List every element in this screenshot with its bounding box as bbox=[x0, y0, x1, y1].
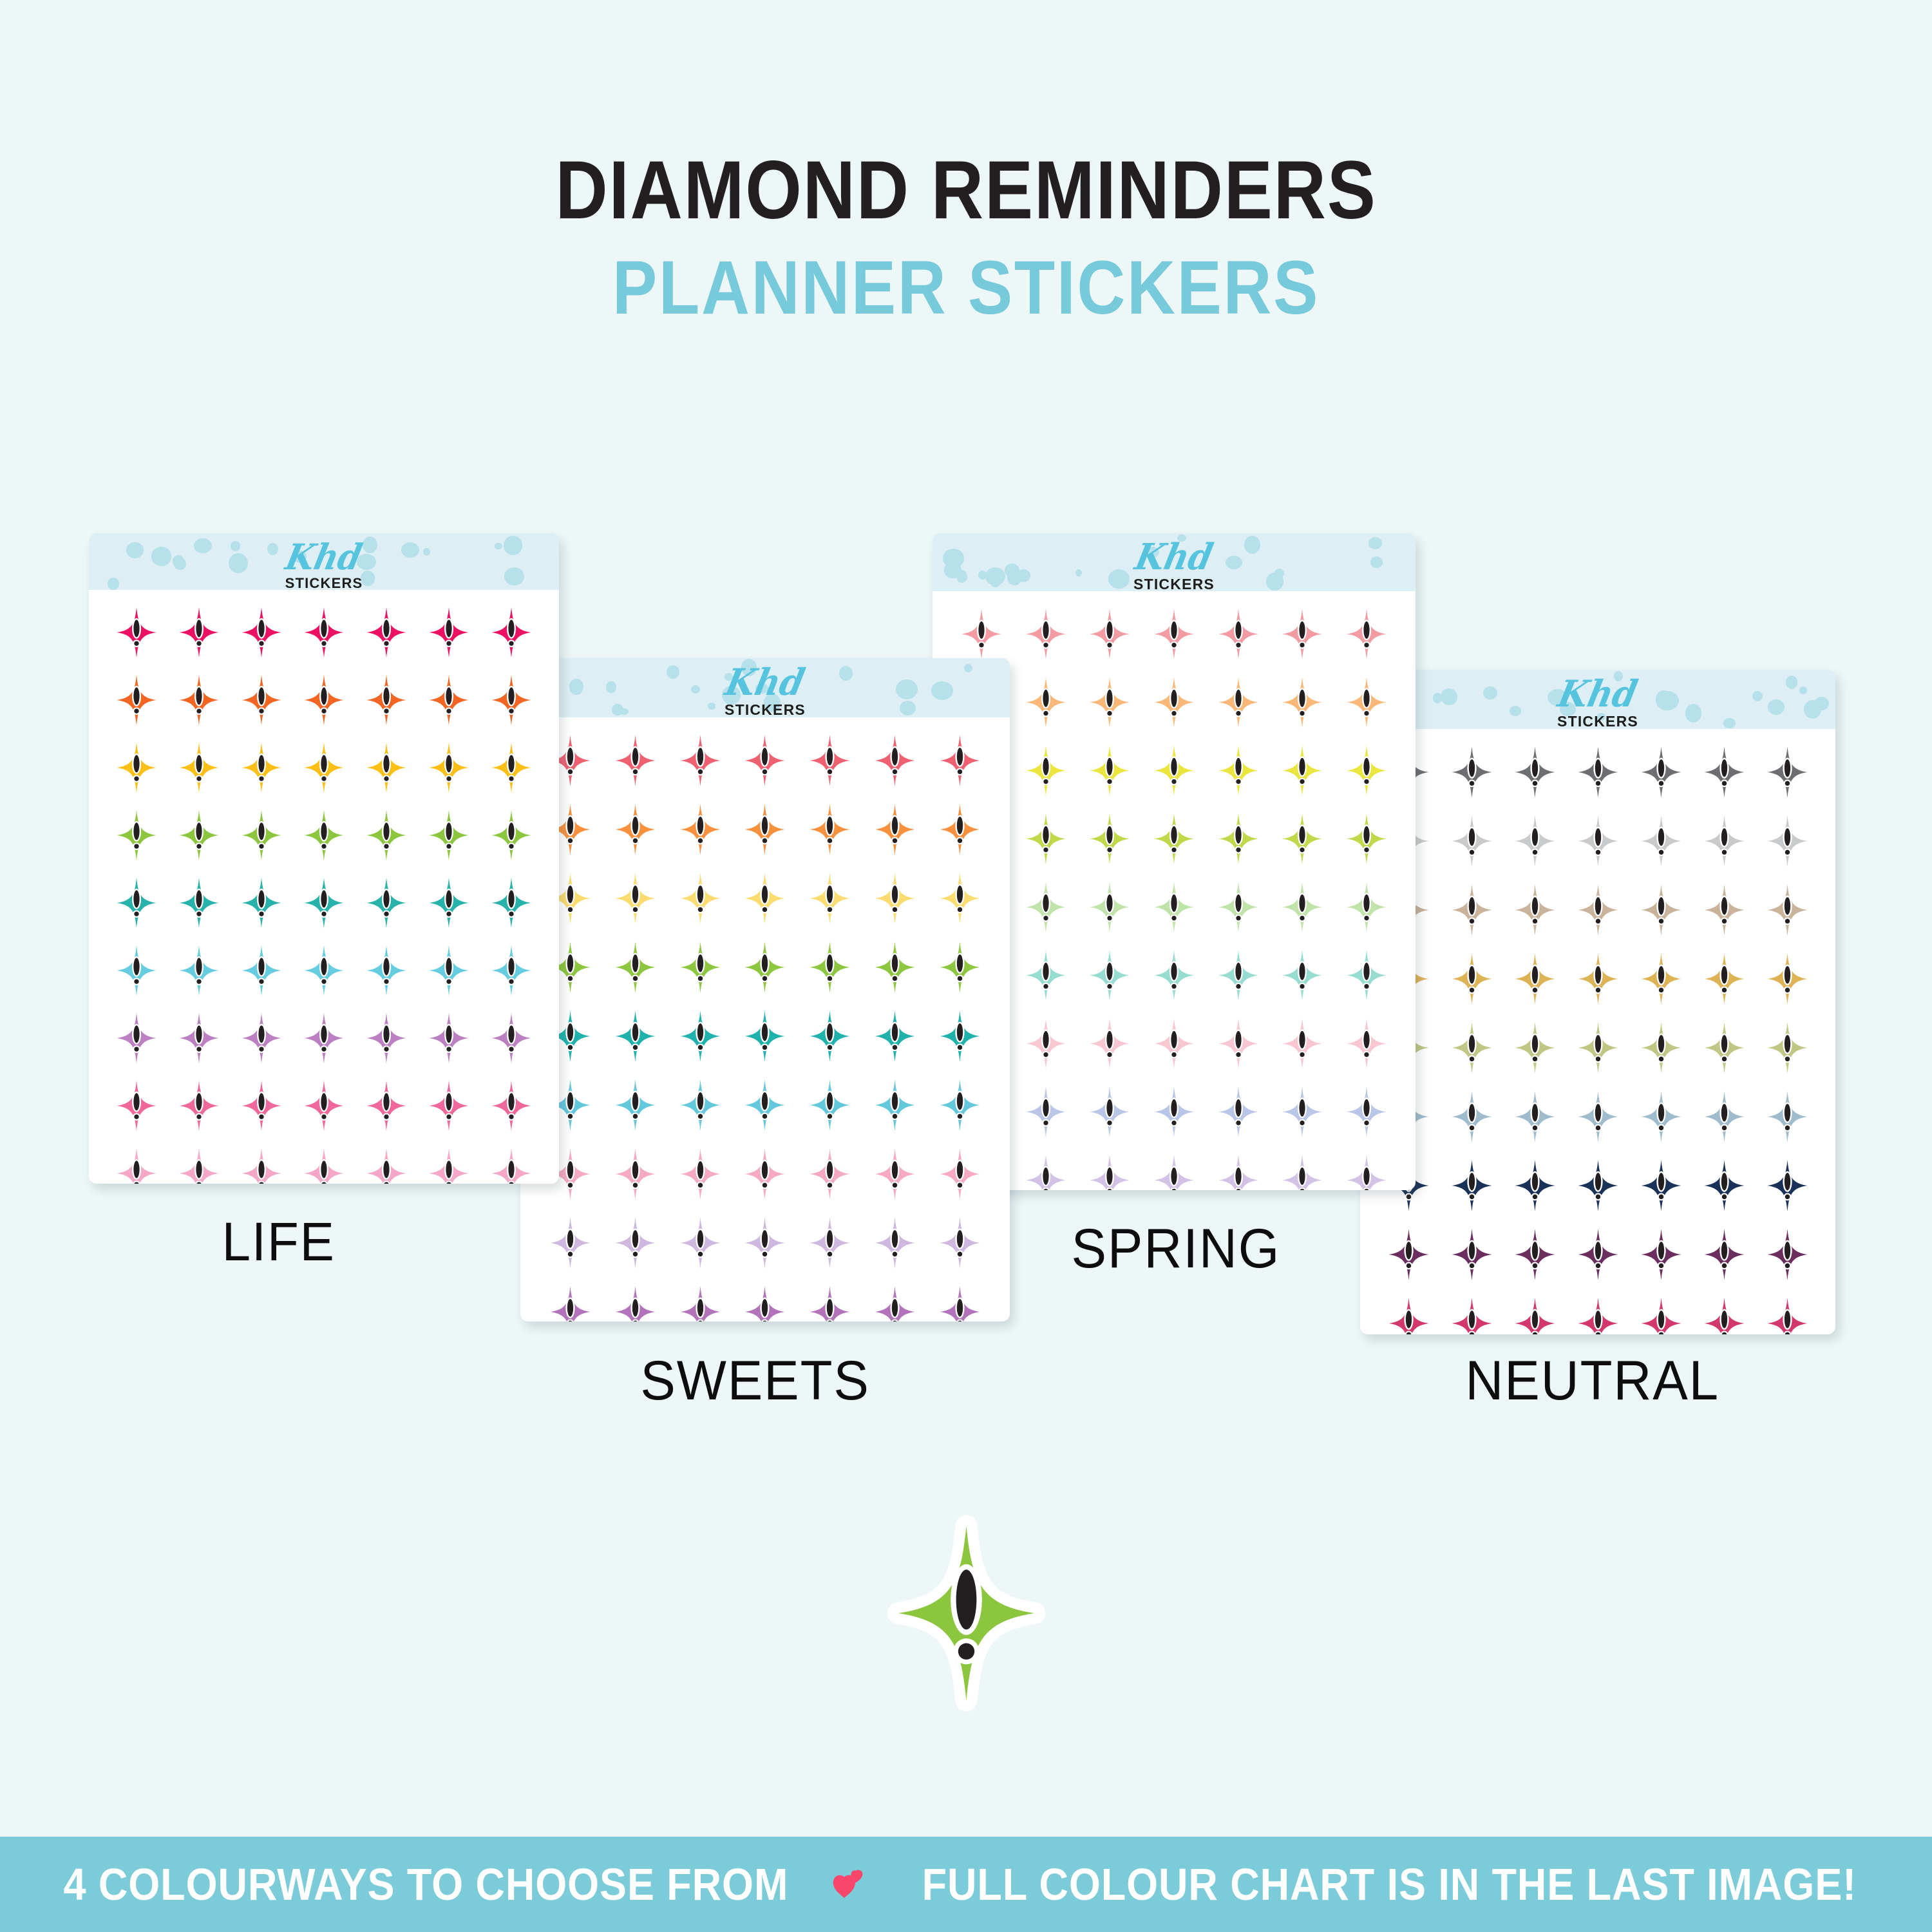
diamond-exclamation-sticker[interactable] bbox=[1150, 875, 1198, 939]
diamond-exclamation-sticker[interactable] bbox=[676, 1280, 725, 1322]
sheet-header-band: KhdSTICKERS bbox=[933, 533, 1416, 591]
diamond-exclamation-sticker[interactable] bbox=[1085, 943, 1134, 1007]
diamond-exclamation-sticker[interactable] bbox=[1510, 1016, 1560, 1080]
diamond-exclamation-sticker[interactable] bbox=[1763, 1222, 1812, 1287]
diamond-exclamation-sticker[interactable] bbox=[237, 1007, 286, 1070]
diamond-exclamation-sticker[interactable] bbox=[1636, 878, 1686, 942]
diamond-exclamation-sticker[interactable] bbox=[175, 871, 223, 934]
brand-word-label: STICKERS bbox=[1360, 714, 1835, 729]
diamond-exclamation-sticker[interactable] bbox=[175, 939, 223, 1002]
diamond-exclamation-sticker[interactable] bbox=[935, 935, 985, 999]
diamond-exclamation-sticker[interactable] bbox=[1278, 1012, 1327, 1075]
diamond-exclamation-sticker[interactable] bbox=[424, 1007, 473, 1070]
diamond-exclamation-sticker[interactable] bbox=[424, 736, 473, 799]
diamond-exclamation-sticker[interactable] bbox=[1447, 878, 1497, 942]
diamond-exclamation-sticker[interactable] bbox=[805, 1211, 855, 1275]
diamond-exclamation-sticker[interactable] bbox=[1278, 875, 1327, 939]
diamond-exclamation-sticker[interactable] bbox=[1510, 1153, 1560, 1218]
diamond-exclamation-sticker[interactable] bbox=[1700, 1084, 1749, 1149]
diamond-exclamation-sticker[interactable] bbox=[487, 1142, 536, 1184]
diamond-exclamation-sticker[interactable] bbox=[1573, 1153, 1623, 1218]
diamond-exclamation-sticker[interactable] bbox=[112, 736, 161, 799]
sheet-header-band: KhdSTICKERS bbox=[1360, 670, 1835, 729]
diamond-exclamation-sticker[interactable] bbox=[112, 804, 161, 867]
diamond-exclamation-sticker[interactable] bbox=[237, 1074, 286, 1137]
diamond-exclamation-sticker[interactable] bbox=[1573, 878, 1623, 942]
diamond-exclamation-sticker[interactable] bbox=[362, 1142, 411, 1184]
brand-script-logo: Khd bbox=[1375, 676, 1820, 712]
diamond-exclamation-sticker[interactable] bbox=[237, 668, 286, 732]
diamond-exclamation-sticker[interactable] bbox=[805, 935, 855, 999]
diamond-exclamation-sticker[interactable] bbox=[1150, 739, 1198, 802]
brand-logo: KhdSTICKERS bbox=[89, 539, 559, 590]
diamond-exclamation-sticker[interactable] bbox=[1763, 1084, 1812, 1149]
diamond-exclamation-sticker[interactable] bbox=[1085, 739, 1134, 802]
diamond-exclamation-sticker[interactable] bbox=[1510, 947, 1560, 1011]
diamond-exclamation-sticker[interactable] bbox=[1700, 947, 1749, 1011]
diamond-exclamation-sticker[interactable] bbox=[870, 1142, 920, 1206]
diamond-exclamation-sticker[interactable] bbox=[1021, 739, 1070, 802]
sheet-label-spring: SPRING bbox=[1072, 1217, 1281, 1281]
diamond-exclamation-sticker[interactable] bbox=[237, 601, 286, 664]
diamond-exclamation-sticker[interactable] bbox=[1763, 878, 1812, 942]
diamond-exclamation-sticker[interactable] bbox=[362, 804, 411, 867]
diamond-exclamation-sticker[interactable] bbox=[1636, 1153, 1686, 1218]
diamond-exclamation-sticker[interactable] bbox=[1085, 1080, 1134, 1144]
diamond-exclamation-sticker[interactable] bbox=[1278, 1080, 1327, 1144]
diamond-exclamation-sticker[interactable] bbox=[1573, 809, 1623, 873]
diamond-exclamation-sticker[interactable] bbox=[1510, 1084, 1560, 1149]
diamond-exclamation-sticker[interactable] bbox=[740, 1073, 790, 1137]
brand-word-label: STICKERS bbox=[89, 576, 559, 590]
hero-diamond-exclamation-icon bbox=[881, 1507, 1052, 1719]
diamond-exclamation-sticker[interactable] bbox=[1214, 739, 1263, 802]
diamond-exclamation-sticker[interactable] bbox=[487, 804, 536, 867]
sticker-sheet-life[interactable]: KhdSTICKERS bbox=[89, 533, 559, 1184]
diamond-exclamation-sticker[interactable] bbox=[740, 728, 790, 793]
diamond-exclamation-sticker[interactable] bbox=[1510, 1291, 1560, 1335]
diamond-exclamation-sticker[interactable] bbox=[805, 1004, 855, 1068]
diamond-exclamation-sticker[interactable] bbox=[1150, 670, 1198, 734]
double-heart-icon bbox=[833, 1868, 866, 1901]
diamond-exclamation-sticker[interactable] bbox=[740, 935, 790, 999]
diamond-exclamation-sticker[interactable] bbox=[424, 1142, 473, 1184]
diamond-exclamation-sticker[interactable] bbox=[487, 736, 536, 799]
diamond-exclamation-sticker[interactable] bbox=[487, 668, 536, 732]
sheet-label-life: LIFE bbox=[222, 1211, 336, 1273]
diamond-exclamation-sticker[interactable] bbox=[1447, 740, 1497, 804]
brand-logo: KhdSTICKERS bbox=[1360, 676, 1835, 729]
diamond-exclamation-sticker[interactable] bbox=[805, 797, 855, 862]
diamond-exclamation-sticker[interactable] bbox=[1573, 1084, 1623, 1149]
diamond-exclamation-sticker[interactable] bbox=[487, 871, 536, 934]
diamond-exclamation-sticker[interactable] bbox=[676, 935, 725, 999]
diamond-exclamation-sticker[interactable] bbox=[611, 866, 660, 931]
diamond-exclamation-sticker[interactable] bbox=[1447, 1222, 1497, 1287]
diamond-exclamation-sticker[interactable] bbox=[1384, 1222, 1434, 1287]
diamond-exclamation-sticker[interactable] bbox=[1214, 670, 1263, 734]
diamond-exclamation-sticker[interactable] bbox=[1150, 1148, 1198, 1191]
diamond-exclamation-sticker[interactable] bbox=[611, 797, 660, 862]
diamond-exclamation-sticker[interactable] bbox=[299, 736, 348, 799]
diamond-exclamation-sticker[interactable] bbox=[1447, 1153, 1497, 1218]
diamond-exclamation-sticker[interactable] bbox=[1447, 1291, 1497, 1335]
diamond-exclamation-sticker[interactable] bbox=[740, 1004, 790, 1068]
diamond-exclamation-sticker[interactable] bbox=[1636, 1016, 1686, 1080]
diamond-exclamation-sticker[interactable] bbox=[299, 804, 348, 867]
diamond-exclamation-sticker[interactable] bbox=[870, 935, 920, 999]
diamond-exclamation-sticker[interactable] bbox=[870, 728, 920, 793]
diamond-exclamation-sticker[interactable] bbox=[1278, 602, 1327, 666]
diamond-exclamation-sticker[interactable] bbox=[1447, 809, 1497, 873]
diamond-exclamation-sticker[interactable] bbox=[362, 668, 411, 732]
diamond-exclamation-sticker[interactable] bbox=[1021, 1012, 1070, 1075]
diamond-exclamation-sticker[interactable] bbox=[805, 1073, 855, 1137]
diamond-exclamation-sticker[interactable] bbox=[237, 939, 286, 1002]
diamond-exclamation-sticker[interactable] bbox=[611, 1280, 660, 1322]
diamond-exclamation-sticker[interactable] bbox=[1573, 1222, 1623, 1287]
diamond-exclamation-sticker[interactable] bbox=[1763, 809, 1812, 873]
diamond-exclamation-sticker[interactable] bbox=[1342, 1148, 1391, 1191]
diamond-exclamation-sticker[interactable] bbox=[237, 804, 286, 867]
brand-script-logo: Khd bbox=[948, 539, 1400, 575]
diamond-exclamation-sticker[interactable] bbox=[362, 939, 411, 1002]
diamond-exclamation-sticker[interactable] bbox=[1278, 739, 1327, 802]
diamond-exclamation-sticker[interactable] bbox=[611, 935, 660, 999]
diamond-exclamation-sticker[interactable] bbox=[1214, 875, 1263, 939]
diamond-exclamation-sticker[interactable] bbox=[1342, 875, 1391, 939]
diamond-exclamation-sticker[interactable] bbox=[1636, 740, 1686, 804]
diamond-exclamation-sticker[interactable] bbox=[740, 1280, 790, 1322]
sticker-grid-neutral bbox=[1360, 737, 1835, 1334]
diamond-exclamation-sticker[interactable] bbox=[957, 602, 1006, 666]
diamond-exclamation-sticker[interactable] bbox=[1214, 807, 1263, 871]
diamond-exclamation-sticker[interactable] bbox=[112, 668, 161, 732]
sticker-grid-life bbox=[89, 598, 559, 1184]
diamond-exclamation-sticker[interactable] bbox=[1278, 943, 1327, 1007]
double-heart-glyph bbox=[833, 1868, 866, 1901]
diamond-exclamation-sticker[interactable] bbox=[362, 1074, 411, 1137]
diamond-exclamation-sticker[interactable] bbox=[1342, 1012, 1391, 1075]
footer-banner: 4 COLOURWAYS TO CHOOSE FROM FULL COLOUR … bbox=[0, 1837, 1932, 1932]
diamond-exclamation-sticker[interactable] bbox=[1021, 1148, 1070, 1191]
diamond-exclamation-sticker[interactable] bbox=[805, 1280, 855, 1322]
diamond-exclamation-sticker[interactable] bbox=[1447, 947, 1497, 1011]
diamond-exclamation-sticker[interactable] bbox=[611, 1211, 660, 1275]
diamond-exclamation-sticker[interactable] bbox=[1573, 947, 1623, 1011]
diamond-exclamation-sticker[interactable] bbox=[1342, 943, 1391, 1007]
diamond-exclamation-sticker[interactable] bbox=[175, 736, 223, 799]
diamond-exclamation-sticker[interactable] bbox=[1763, 1153, 1812, 1218]
diamond-exclamation-sticker[interactable] bbox=[1150, 943, 1198, 1007]
diamond-exclamation-sticker[interactable] bbox=[1214, 1012, 1263, 1075]
diamond-exclamation-sticker[interactable] bbox=[487, 1074, 536, 1137]
diamond-exclamation-sticker[interactable] bbox=[112, 1142, 161, 1184]
diamond-exclamation-sticker[interactable] bbox=[935, 866, 985, 931]
diamond-exclamation-sticker[interactable] bbox=[1085, 1012, 1134, 1075]
diamond-exclamation-sticker[interactable] bbox=[112, 601, 161, 664]
diamond-exclamation-sticker[interactable] bbox=[1214, 1148, 1263, 1191]
diamond-exclamation-sticker[interactable] bbox=[1636, 809, 1686, 873]
diamond-exclamation-sticker[interactable] bbox=[1700, 1222, 1749, 1287]
brand-word-label: STICKERS bbox=[933, 577, 1416, 591]
diamond-exclamation-sticker[interactable] bbox=[1573, 740, 1623, 804]
diamond-exclamation-sticker[interactable] bbox=[870, 1073, 920, 1137]
diamond-exclamation-sticker[interactable] bbox=[1085, 670, 1134, 734]
diamond-exclamation-sticker[interactable] bbox=[1573, 1291, 1623, 1335]
diamond-exclamation-sticker[interactable] bbox=[1510, 740, 1560, 804]
diamond-exclamation-sticker[interactable] bbox=[175, 1074, 223, 1137]
diamond-exclamation-sticker[interactable] bbox=[299, 1142, 348, 1184]
diamond-exclamation-sticker[interactable] bbox=[1342, 807, 1391, 871]
diamond-exclamation-sticker[interactable] bbox=[1700, 740, 1749, 804]
diamond-exclamation-sticker[interactable] bbox=[1573, 1016, 1623, 1080]
diamond-exclamation-sticker[interactable] bbox=[1342, 602, 1391, 666]
diamond-exclamation-sticker[interactable] bbox=[362, 1007, 411, 1070]
diamond-exclamation-sticker[interactable] bbox=[1700, 878, 1749, 942]
diamond-exclamation-sticker[interactable] bbox=[1214, 1080, 1263, 1144]
diamond-exclamation-sticker[interactable] bbox=[676, 1004, 725, 1068]
diamond-exclamation-sticker[interactable] bbox=[676, 1073, 725, 1137]
diamond-exclamation-sticker[interactable] bbox=[1085, 1148, 1134, 1191]
diamond-exclamation-sticker[interactable] bbox=[740, 797, 790, 862]
diamond-exclamation-sticker[interactable] bbox=[1763, 1016, 1812, 1080]
diamond-exclamation-sticker[interactable] bbox=[1342, 670, 1391, 734]
diamond-exclamation-sticker[interactable] bbox=[175, 804, 223, 867]
diamond-exclamation-sticker[interactable] bbox=[362, 601, 411, 664]
diamond-exclamation-sticker[interactable] bbox=[805, 1142, 855, 1206]
diamond-exclamation-sticker[interactable] bbox=[1384, 1291, 1434, 1335]
diamond-exclamation-sticker[interactable] bbox=[1021, 807, 1070, 871]
diamond-exclamation-sticker[interactable] bbox=[424, 804, 473, 867]
diamond-exclamation-sticker[interactable] bbox=[362, 871, 411, 934]
diamond-exclamation-sticker[interactable] bbox=[740, 866, 790, 931]
diamond-exclamation-sticker[interactable] bbox=[676, 797, 725, 862]
diamond-exclamation-sticker[interactable] bbox=[870, 797, 920, 862]
diamond-exclamation-sticker[interactable] bbox=[112, 871, 161, 934]
sheet-label-neutral: NEUTRAL bbox=[1465, 1349, 1719, 1413]
diamond-exclamation-sticker[interactable] bbox=[1150, 1080, 1198, 1144]
diamond-exclamation-sticker[interactable] bbox=[1636, 1084, 1686, 1149]
diamond-exclamation-sticker[interactable] bbox=[299, 668, 348, 732]
diamond-exclamation-sticker[interactable] bbox=[1763, 740, 1812, 804]
diamond-exclamation-sticker[interactable] bbox=[935, 1073, 985, 1137]
sheet-header-band: KhdSTICKERS bbox=[89, 533, 559, 590]
diamond-exclamation-sticker[interactable] bbox=[1150, 1012, 1198, 1075]
diamond-exclamation-sticker[interactable] bbox=[870, 1004, 920, 1068]
diamond-exclamation-sticker[interactable] bbox=[1021, 875, 1070, 939]
diamond-exclamation-sticker[interactable] bbox=[1700, 809, 1749, 873]
diamond-exclamation-sticker[interactable] bbox=[1636, 1291, 1686, 1335]
diamond-exclamation-sticker[interactable] bbox=[1278, 670, 1327, 734]
diamond-exclamation-sticker[interactable] bbox=[935, 797, 985, 862]
diamond-exclamation-sticker[interactable] bbox=[299, 939, 348, 1002]
diamond-exclamation-sticker[interactable] bbox=[424, 939, 473, 1002]
diamond-exclamation-sticker[interactable] bbox=[611, 1073, 660, 1137]
diamond-exclamation-sticker[interactable] bbox=[1510, 809, 1560, 873]
diamond-exclamation-sticker[interactable] bbox=[112, 1074, 161, 1137]
diamond-exclamation-sticker[interactable] bbox=[740, 1142, 790, 1206]
diamond-exclamation-sticker[interactable] bbox=[1763, 947, 1812, 1011]
diamond-exclamation-sticker[interactable] bbox=[935, 1142, 985, 1206]
sticker-grid-sweets bbox=[520, 726, 1010, 1321]
diamond-exclamation-sticker[interactable] bbox=[299, 601, 348, 664]
diamond-exclamation-sticker[interactable] bbox=[805, 728, 855, 793]
diamond-exclamation-sticker[interactable] bbox=[1021, 670, 1070, 734]
brand-word-label: STICKERS bbox=[520, 703, 1010, 717]
diamond-exclamation-sticker[interactable] bbox=[1278, 1148, 1327, 1191]
diamond-exclamation-sticker[interactable] bbox=[1447, 1016, 1497, 1080]
diamond-exclamation-sticker[interactable] bbox=[1021, 943, 1070, 1007]
sticker-sheets-area: KhdSTICKERS bbox=[0, 0, 1932, 1481]
diamond-exclamation-sticker[interactable] bbox=[935, 728, 985, 793]
diamond-exclamation-sticker[interactable] bbox=[1085, 807, 1134, 871]
diamond-exclamation-sticker[interactable] bbox=[487, 939, 536, 1002]
brand-script-logo: Khd bbox=[104, 539, 544, 574]
diamond-exclamation-sticker[interactable] bbox=[1214, 602, 1263, 666]
diamond-exclamation-sticker[interactable] bbox=[1447, 1084, 1497, 1149]
diamond-exclamation-sticker[interactable] bbox=[1278, 807, 1327, 871]
sticker-sheet-sweets[interactable]: KhdSTICKERS bbox=[520, 658, 1010, 1321]
diamond-exclamation-sticker[interactable] bbox=[545, 1211, 595, 1275]
diamond-exclamation-sticker[interactable] bbox=[299, 871, 348, 934]
sheet-header-band: KhdSTICKERS bbox=[520, 658, 1010, 717]
diamond-exclamation-sticker[interactable] bbox=[175, 601, 223, 664]
diamond-exclamation-sticker[interactable] bbox=[1510, 878, 1560, 942]
diamond-exclamation-sticker[interactable] bbox=[1700, 1016, 1749, 1080]
diamond-exclamation-sticker[interactable] bbox=[676, 1211, 725, 1275]
diamond-exclamation-sticker[interactable] bbox=[1150, 807, 1198, 871]
diamond-exclamation-sticker[interactable] bbox=[1150, 602, 1198, 666]
diamond-exclamation-sticker[interactable] bbox=[545, 1280, 595, 1322]
diamond-exclamation-sticker[interactable] bbox=[424, 668, 473, 732]
diamond-exclamation-sticker[interactable] bbox=[676, 728, 725, 793]
brand-script-logo: Khd bbox=[536, 664, 994, 701]
brand-logo: KhdSTICKERS bbox=[520, 664, 1010, 717]
diamond-exclamation-sticker[interactable] bbox=[935, 1280, 985, 1322]
diamond-exclamation-sticker[interactable] bbox=[424, 871, 473, 934]
diamond-exclamation-sticker[interactable] bbox=[1636, 1222, 1686, 1287]
diamond-exclamation-sticker[interactable] bbox=[1763, 1291, 1812, 1335]
diamond-exclamation-sticker[interactable] bbox=[676, 1142, 725, 1206]
diamond-exclamation-sticker[interactable] bbox=[1342, 739, 1391, 802]
diamond-exclamation-sticker[interactable] bbox=[1510, 1222, 1560, 1287]
diamond-exclamation-sticker[interactable] bbox=[1700, 1291, 1749, 1335]
diamond-exclamation-sticker[interactable] bbox=[175, 668, 223, 732]
diamond-exclamation-sticker[interactable] bbox=[112, 939, 161, 1002]
diamond-exclamation-sticker[interactable] bbox=[611, 1142, 660, 1206]
diamond-exclamation-sticker[interactable] bbox=[424, 1074, 473, 1137]
diamond-exclamation-sticker[interactable] bbox=[237, 736, 286, 799]
diamond-exclamation-sticker[interactable] bbox=[740, 1211, 790, 1275]
sticker-sheet-neutral[interactable]: KhdSTICKERS bbox=[1360, 670, 1835, 1334]
footer-text-after: FULL COLOUR CHART IS IN THE LAST IMAGE! bbox=[922, 1859, 1857, 1910]
diamond-exclamation-sticker[interactable] bbox=[935, 1004, 985, 1068]
footer-text-before: 4 COLOURWAYS TO CHOOSE FROM bbox=[64, 1859, 789, 1910]
diamond-exclamation-sticker[interactable] bbox=[1085, 602, 1134, 666]
diamond-exclamation-sticker[interactable] bbox=[1214, 943, 1263, 1007]
brand-logo: KhdSTICKERS bbox=[933, 539, 1416, 591]
diamond-exclamation-sticker[interactable] bbox=[1085, 875, 1134, 939]
diamond-exclamation-sticker[interactable] bbox=[676, 866, 725, 931]
diamond-exclamation-sticker[interactable] bbox=[362, 736, 411, 799]
diamond-exclamation-sticker[interactable] bbox=[487, 601, 536, 664]
diamond-exclamation-sticker[interactable] bbox=[424, 601, 473, 664]
diamond-exclamation-sticker[interactable] bbox=[870, 1280, 920, 1322]
diamond-exclamation-sticker[interactable] bbox=[935, 1211, 985, 1275]
diamond-exclamation-sticker[interactable] bbox=[870, 866, 920, 931]
diamond-exclamation-sticker[interactable] bbox=[611, 1004, 660, 1068]
diamond-exclamation-sticker[interactable] bbox=[175, 1142, 223, 1184]
diamond-exclamation-sticker[interactable] bbox=[299, 1074, 348, 1137]
diamond-exclamation-sticker[interactable] bbox=[299, 1007, 348, 1070]
diamond-exclamation-sticker[interactable] bbox=[1021, 602, 1070, 666]
sheet-label-sweets: SWEETS bbox=[640, 1349, 869, 1413]
diamond-exclamation-sticker[interactable] bbox=[1021, 1080, 1070, 1144]
diamond-exclamation-sticker[interactable] bbox=[805, 866, 855, 931]
diamond-exclamation-sticker[interactable] bbox=[175, 1007, 223, 1070]
diamond-exclamation-sticker[interactable] bbox=[237, 871, 286, 934]
diamond-exclamation-sticker[interactable] bbox=[112, 1007, 161, 1070]
diamond-exclamation-sticker[interactable] bbox=[1636, 947, 1686, 1011]
diamond-exclamation-sticker[interactable] bbox=[611, 728, 660, 793]
diamond-exclamation-sticker[interactable] bbox=[870, 1211, 920, 1275]
diamond-exclamation-sticker[interactable] bbox=[487, 1007, 536, 1070]
diamond-exclamation-sticker[interactable] bbox=[1700, 1153, 1749, 1218]
diamond-exclamation-sticker[interactable] bbox=[1342, 1080, 1391, 1144]
diamond-exclamation-sticker[interactable] bbox=[237, 1142, 286, 1184]
